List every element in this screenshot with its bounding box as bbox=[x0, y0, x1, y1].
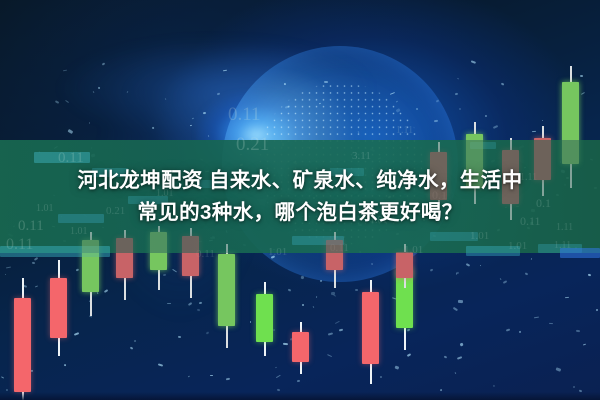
candle-body bbox=[182, 236, 199, 276]
candlestick-through-band bbox=[326, 232, 343, 288]
candle-body bbox=[218, 254, 235, 326]
candlestick-through-band bbox=[182, 228, 199, 298]
candlestick-through-band bbox=[150, 226, 167, 290]
candle-body bbox=[150, 232, 167, 270]
candle-body bbox=[396, 252, 413, 278]
candlestick-through-band bbox=[562, 66, 579, 188]
bottom-vignette bbox=[0, 392, 600, 400]
candle-body bbox=[466, 134, 483, 188]
candlestick-through-band bbox=[82, 232, 99, 316]
candlestick-through-band bbox=[396, 244, 413, 288]
candle-body bbox=[430, 152, 447, 200]
banner-image: 0.110.213.111.110.111.010.110.111.010.21… bbox=[0, 0, 600, 400]
candlestick-overlay-layer bbox=[0, 0, 600, 400]
candle-body bbox=[82, 240, 99, 292]
candle-body bbox=[326, 240, 343, 270]
candlestick-through-band bbox=[218, 244, 235, 348]
candlestick-through-band bbox=[430, 142, 447, 216]
candle-body bbox=[534, 138, 551, 180]
candlestick-through-band bbox=[466, 122, 483, 204]
candle-body bbox=[562, 82, 579, 164]
candle-body bbox=[502, 150, 519, 204]
candlestick-through-band bbox=[116, 230, 133, 300]
candlestick-through-band bbox=[534, 126, 551, 196]
candlestick-through-band bbox=[502, 138, 519, 220]
candle-body bbox=[116, 238, 133, 278]
